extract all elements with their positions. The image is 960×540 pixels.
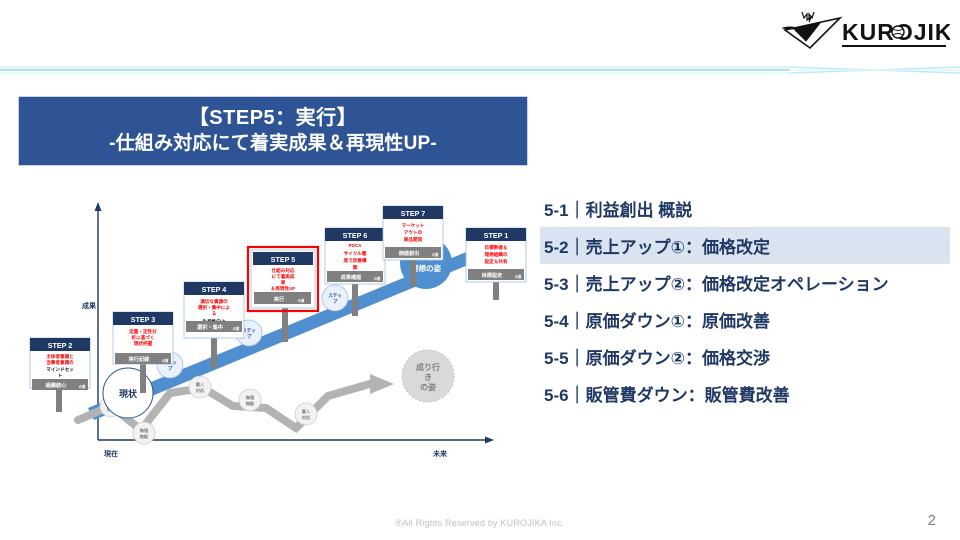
- step-bubble: ステッ プ: [322, 285, 348, 311]
- svg-text:現状把握: 現状把握: [134, 340, 153, 347]
- svg-text:商品開発: 商品開発: [404, 236, 423, 243]
- x-axis-label-left: 現在: [104, 449, 118, 458]
- svg-text:無理: 無理: [246, 394, 255, 401]
- menu-item-label: 5-2｜売上アップ①：価格改定: [544, 233, 770, 258]
- svg-text:にて着実成: にて着実成: [272, 273, 295, 280]
- menu-item-label: 5-3｜売上アップ②：価格改定オペレーション: [544, 270, 889, 295]
- menu-item-label: 5-5｜原価ダウン②：価格交渉: [544, 344, 770, 369]
- svg-text:の質: の質: [79, 384, 86, 389]
- step-card-step1[interactable]: STEP 1 目標数値＆ 理想組織の 設定＆共有 目標設定 の質: [466, 228, 526, 300]
- kurojika-logo: KUROJIKA: [780, 8, 950, 54]
- menu-item-5-3[interactable]: 5-3｜売上アップ②：価格改定オペレーション: [540, 264, 950, 301]
- svg-text:＆再現性UP: ＆再現性UP: [271, 285, 296, 292]
- step-quality-label: 実行: [274, 295, 285, 303]
- y-axis-label: 成果: [82, 301, 96, 310]
- svg-text:の質: の質: [298, 298, 305, 303]
- svg-text:プ: プ: [247, 333, 252, 340]
- svg-text:理想組織の: 理想組織の: [485, 251, 508, 258]
- svg-text:プ: プ: [333, 298, 338, 305]
- svg-text:主体者意識と: 主体者意識と: [46, 353, 74, 360]
- gray-bubble: 属人 対応: [189, 376, 211, 398]
- svg-text:の質: の質: [233, 326, 240, 331]
- svg-text:アウトの: アウトの: [404, 229, 423, 236]
- svg-text:現状: 現状: [119, 388, 138, 399]
- svg-text:目標数値＆: 目標数値＆: [485, 244, 508, 251]
- svg-text:仕組み対応: 仕組み対応: [271, 267, 295, 274]
- svg-text:ト: ト: [58, 373, 63, 378]
- step-quality-label: 選択・集中: [197, 323, 223, 331]
- menu-item-5-4[interactable]: 5-4｜原価ダウン①：原価改善: [540, 301, 950, 338]
- menu-item-5-5[interactable]: 5-5｜原価ダウン②：価格交渉: [540, 338, 950, 375]
- drift-state-circle: 成り行 き の姿: [402, 350, 454, 402]
- step-quality-label: 成果確認: [341, 273, 363, 281]
- gray-bubble: 無理 無駄: [239, 389, 261, 411]
- svg-text:底で改善構: 底で改善構: [344, 257, 367, 264]
- step-quality-label: 実行記録: [129, 355, 151, 363]
- svg-text:の姿: の姿: [420, 382, 436, 392]
- menu-item-5-6[interactable]: 5-6｜販管費ダウン：販管費改善: [540, 375, 950, 412]
- svg-text:プ: プ: [168, 365, 173, 372]
- svg-text:定量・定性分: 定量・定性分: [129, 328, 157, 335]
- svg-text:当事者意識の: 当事者意識の: [46, 359, 74, 366]
- svg-text:属人: 属人: [196, 381, 205, 388]
- svg-text:適切な資源の: 適切な資源の: [200, 298, 228, 305]
- step-quality-label: 目標設定: [482, 271, 504, 279]
- svg-text:の質: の質: [374, 276, 381, 281]
- svg-text:無理: 無理: [140, 427, 149, 434]
- svg-text:選択・集中によ: 選択・集中によ: [198, 304, 231, 311]
- svg-text:築: 築: [352, 264, 358, 271]
- svg-text:の質: の質: [432, 252, 439, 257]
- x-axis-label-right: 未来: [433, 449, 448, 458]
- step-title: STEP 3: [131, 315, 156, 324]
- step-title: STEP 5: [271, 255, 296, 264]
- banner-line-2: -仕組み対応にて着実成果＆再現性UP-: [109, 132, 437, 156]
- svg-text:設定＆共有: 設定＆共有: [485, 258, 508, 265]
- svg-text:対応: 対応: [195, 387, 205, 394]
- agenda-menu: 5-1｜利益創出 概説 5-2｜売上アップ①：価格改定 5-3｜売上アップ②：価…: [540, 190, 950, 412]
- step-title: STEP 2: [48, 341, 73, 350]
- slide-title-banner: 【STEP5：実行】 -仕組み対応にて着実成果＆再現性UP-: [18, 96, 528, 166]
- svg-text:サイクル徹: サイクル徹: [344, 250, 367, 257]
- step-quality-label: 組織結心: [46, 381, 68, 389]
- step-title: STEP 7: [401, 209, 426, 218]
- step-title: STEP 6: [343, 231, 368, 240]
- growth-steps-diagram: 成果 現在 未来 属人 対応 無理 無駄: [18, 178, 530, 478]
- menu-item-label: 5-6｜販管費ダウン：販管費改善: [544, 381, 790, 406]
- gray-bubble: 属人 対応: [295, 403, 317, 425]
- footer-copyright: ®All Rights Reserved by KUROJIKA Inc.: [0, 518, 960, 528]
- page-number: 2: [928, 512, 936, 529]
- menu-item-label: 5-4｜原価ダウン①：原価改善: [544, 307, 770, 332]
- menu-item-5-2[interactable]: 5-2｜売上アップ①：価格改定: [540, 227, 950, 264]
- svg-text:無駄: 無駄: [140, 433, 149, 440]
- menu-item-label: 5-1｜利益創出 概説: [544, 196, 692, 221]
- svg-text:の質: の質: [515, 274, 522, 279]
- menu-item-5-1[interactable]: 5-1｜利益創出 概説: [540, 190, 950, 227]
- logo-svg: KUROJIKA: [780, 8, 950, 54]
- svg-text:属人: 属人: [302, 408, 311, 415]
- step-quality-label: 価値創出: [398, 249, 420, 257]
- header-divider: [0, 62, 960, 76]
- banner-line-1: 【STEP5：実行】: [189, 107, 357, 130]
- gray-bubble: 無理 無駄: [133, 422, 155, 444]
- svg-text:析に基づく: 析に基づく: [132, 334, 155, 341]
- step-card-step2[interactable]: STEP 2 主体者意識と 当事者意識の マインドセッ ト 組織結心 の質: [30, 338, 90, 412]
- diagram-svg: 成果 現在 未来 属人 対応 無理 無駄: [18, 178, 530, 478]
- step-title: STEP 1: [484, 231, 509, 240]
- step-title: STEP 4: [202, 285, 227, 294]
- svg-text:成り行: 成り行: [416, 362, 440, 372]
- svg-text:PDCA: PDCA: [348, 243, 362, 248]
- svg-text:果: 果: [281, 279, 286, 286]
- svg-text:き: き: [424, 373, 432, 382]
- slide-root: KUROJIKA 【STEP5：実行】 -仕組み対応にて着実成果＆再現性UP- …: [0, 0, 960, 540]
- svg-text:無駄: 無駄: [246, 400, 255, 407]
- svg-text:の質: の質: [162, 358, 169, 363]
- svg-text:マーケット: マーケット: [402, 222, 425, 229]
- svg-text:対応: 対応: [301, 414, 311, 421]
